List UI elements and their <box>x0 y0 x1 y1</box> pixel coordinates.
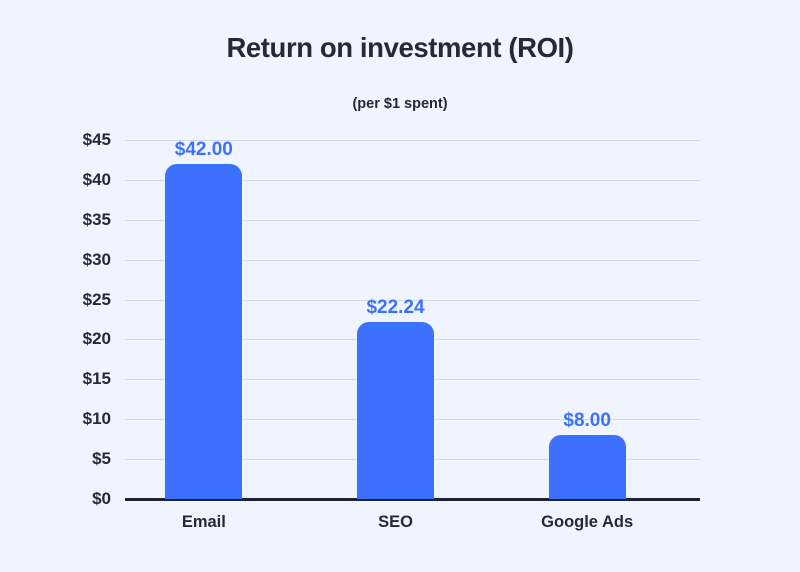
y-axis-tick-label: $10 <box>41 409 111 429</box>
y-axis-tick-label: $35 <box>41 210 111 230</box>
y-axis-tick-label: $5 <box>41 449 111 469</box>
y-axis-tick-label: $20 <box>41 329 111 349</box>
x-axis-category-label: SEO <box>306 512 486 533</box>
bar-value-label: $22.24 <box>316 296 476 319</box>
x-axis-category-label: Email <box>114 512 294 533</box>
x-axis-category-label: Google Ads <box>497 512 677 533</box>
y-axis-tick-label: $30 <box>41 250 111 270</box>
bar-email[interactable] <box>165 164 242 499</box>
bar-google-ads[interactable] <box>549 435 626 499</box>
y-axis-tick-label: $40 <box>41 170 111 190</box>
y-axis: $0$5$10$15$20$25$30$35$40$45 <box>35 140 111 499</box>
y-axis-tick-label: $15 <box>41 369 111 389</box>
y-axis-tick-label: $0 <box>41 489 111 509</box>
y-axis-tick-label: $45 <box>41 130 111 150</box>
chart-subtitle: (per $1 spent) <box>0 95 800 114</box>
y-axis-tick-label: $25 <box>41 290 111 310</box>
roi-bar-chart: Return on investment (ROI) (per $1 spent… <box>0 0 800 572</box>
bar-value-label: $42.00 <box>124 138 284 161</box>
bar-value-label: $8.00 <box>507 409 667 432</box>
chart-title: Return on investment (ROI) <box>0 30 800 66</box>
bar-seo[interactable] <box>357 322 434 499</box>
